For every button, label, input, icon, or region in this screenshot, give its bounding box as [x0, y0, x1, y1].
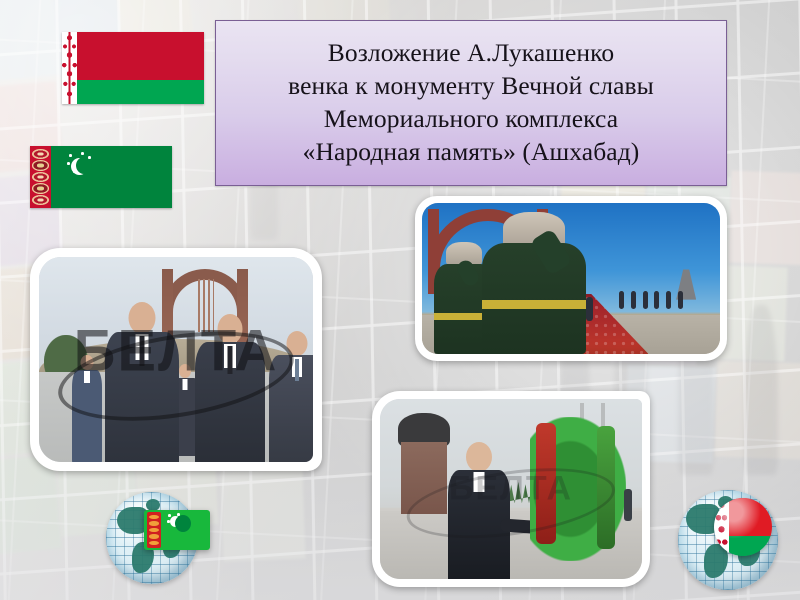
official-figure: [269, 331, 313, 462]
star-icon: [168, 514, 171, 517]
title-line-4: «Народная память» (Ашхабад): [288, 136, 654, 169]
belarus-flag-ornament: [62, 32, 77, 104]
background-official: [72, 355, 102, 449]
shirt: [474, 472, 485, 492]
head: [287, 331, 308, 356]
title-line-1: Возложение А.Лукашенко: [288, 37, 654, 70]
belarus-flag-green-band: [77, 80, 204, 104]
carpet-gul: [149, 521, 159, 525]
carpet-gul: [149, 528, 159, 532]
official-figure: [195, 314, 265, 462]
star-icon: [69, 154, 72, 157]
suit-torso: [72, 370, 102, 462]
star-icon: [177, 513, 180, 516]
belarus-flag-field: [77, 32, 204, 104]
necktie: [139, 336, 144, 366]
memorial-wreath: [530, 417, 626, 561]
photo-wreath: БЕЛТА: [372, 391, 650, 587]
star-icon: [167, 520, 170, 523]
lukashenko-figure: [105, 302, 179, 462]
turkmenistan-flag-carpet-stripe: [30, 146, 51, 208]
turkmenistan-waving-flag-icon: [144, 510, 210, 550]
turkmenistan-flag-field: [51, 146, 172, 208]
photo-honor-guard: [415, 196, 727, 361]
star-icon: [73, 170, 76, 173]
belarus-flag-icon: [62, 32, 204, 104]
necktie: [228, 346, 233, 374]
background-guard: [624, 489, 632, 521]
carpet-gul: [32, 149, 49, 160]
photo-wreath-image: БЕЛТА: [380, 399, 642, 579]
slide-canvas: Возложение А.Лукашенко венка к монументу…: [0, 0, 800, 600]
lukashenko-figure: [448, 442, 510, 575]
necktie: [295, 359, 299, 381]
slide-title-box: Возложение А.Лукашенко венка к монументу…: [215, 20, 727, 186]
belarus-flag-red-band: [77, 32, 204, 80]
carpet-gul: [149, 541, 159, 545]
carpet-gul: [32, 160, 49, 171]
delegation-crowd: [654, 291, 659, 309]
delegation-crowd: [643, 291, 648, 309]
turkmenistan-flag-icon: [30, 146, 172, 208]
photo-lukashenko-walk-image: БЕЛТА: [39, 257, 313, 462]
head: [179, 364, 191, 378]
globe-belarus: [678, 490, 778, 590]
title-line-3: Мемориального комплекса: [288, 103, 654, 136]
wreath-red-ribbon: [536, 423, 556, 544]
shirt: [84, 371, 90, 383]
star-icon: [88, 156, 91, 159]
carpet-gul: [32, 195, 49, 206]
guard-belt: [482, 300, 586, 309]
suit-torso: [269, 355, 313, 462]
photo-lukashenko-walk: БЕЛТА: [30, 248, 322, 471]
carpet-gul: [32, 183, 49, 194]
star-icon: [67, 162, 70, 165]
photo-honor-guard-image: [422, 203, 720, 354]
walking-official: [586, 297, 593, 321]
delegation-crowd: [678, 291, 683, 309]
slide-title-text: Возложение А.Лукашенко венка к монументу…: [278, 37, 664, 169]
title-line-2: венка к монументу Вечной славы: [288, 70, 654, 103]
scene-wreath-laying: БЕЛТА: [380, 399, 642, 579]
honor-guard-figure: [482, 212, 586, 354]
head: [128, 302, 155, 334]
carpet-gul: [149, 515, 159, 519]
head: [466, 442, 492, 472]
carpet-gul: [32, 172, 49, 183]
belarus-round-flag-icon: [714, 498, 772, 556]
carpet-gul: [149, 534, 159, 538]
globe-turkmenistan: [106, 492, 198, 584]
head: [80, 355, 93, 370]
badge-gloss: [714, 498, 772, 556]
scene-walking-delegation: БЕЛТА: [39, 257, 313, 462]
monument-pedestal: [401, 442, 447, 514]
delegation-crowd: [666, 291, 671, 309]
shirt: [182, 379, 187, 390]
crescent-moon-icon: [170, 516, 181, 527]
waving-flag-carpet-stripe: [147, 512, 162, 547]
wreath-green-ribbon: [597, 426, 615, 550]
head: [218, 314, 243, 344]
delegation-crowd: [619, 291, 624, 309]
delegation-crowd: [631, 291, 636, 309]
star-icon: [81, 152, 84, 155]
scene-honor-guard: [422, 203, 720, 354]
